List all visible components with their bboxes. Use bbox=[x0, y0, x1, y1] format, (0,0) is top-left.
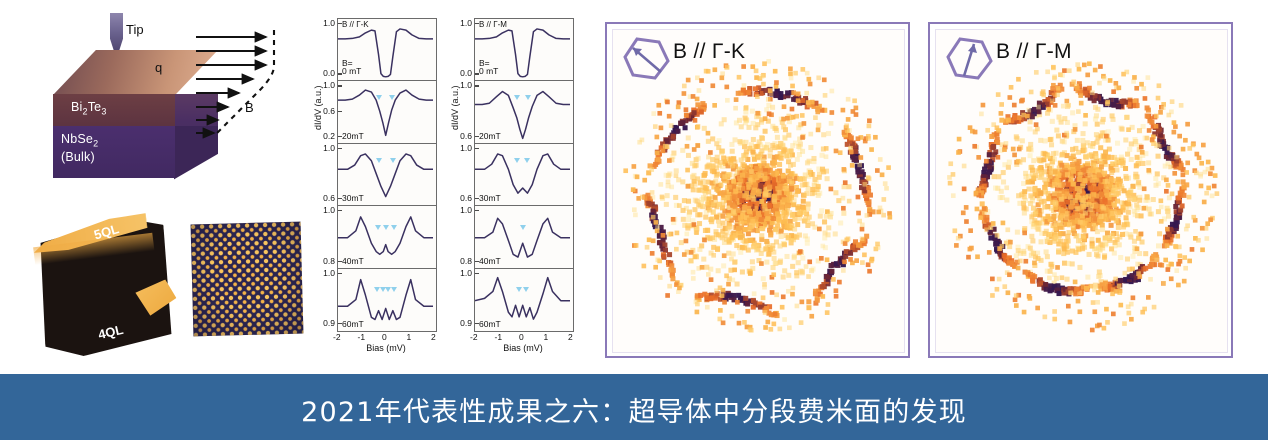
marker-arrow-icon bbox=[376, 95, 382, 100]
y-tick-label: 1.0 bbox=[460, 18, 472, 28]
block-top-face bbox=[53, 50, 218, 95]
x-tick-label: 0 bbox=[382, 332, 387, 342]
y-tick-label: 1.0 bbox=[460, 143, 472, 153]
y-tick-label: 0.2 bbox=[323, 131, 335, 141]
spectra-column-gamma-k: dI/dV (a.u.) 1.00.0B // Γ-KB=0 mT1.00.60… bbox=[315, 18, 435, 363]
marker-arrow-icon bbox=[390, 158, 396, 163]
field-label: 40mT bbox=[479, 257, 501, 266]
topography-panel: 5QL 4QL bbox=[10, 205, 300, 365]
marker-arrow-icon bbox=[391, 225, 397, 230]
qpi-map-panel-gamma-k: B // Γ-K bbox=[605, 22, 910, 358]
q-vector-label: q bbox=[155, 60, 162, 75]
spectra-xaxis-gk: Bias (mV) -2-1012 bbox=[337, 331, 435, 361]
y-tick-label: 1.0 bbox=[323, 80, 335, 90]
spectrum-cell: 40mT bbox=[338, 206, 436, 268]
qpi-map-panel-gamma-m: B // Γ-M bbox=[928, 22, 1233, 358]
qpi-title-gm: B // Γ-M bbox=[996, 40, 1072, 64]
spectra-xtitle-gk: Bias (mV) bbox=[337, 343, 435, 353]
marker-arrow-icon bbox=[376, 158, 382, 163]
spectrum-cell: B // Γ-MB=0 mT bbox=[475, 19, 573, 81]
tip-label: Tip bbox=[126, 22, 144, 37]
hexagon-arrow-icon-gm bbox=[946, 36, 994, 82]
spectra-ylabel-gm: dI/dV (a.u.) bbox=[450, 85, 460, 130]
qpi-inner-gk: B // Γ-K bbox=[612, 29, 905, 353]
label-nbse2: NbSe2 bbox=[61, 132, 98, 149]
spectrum-cell: 20mT bbox=[475, 81, 573, 143]
marker-arrow-icon bbox=[383, 225, 389, 230]
y-tick-label: 0.6 bbox=[323, 193, 335, 203]
spectra-xaxis-gm: Bias (mV) -2-1012 bbox=[474, 331, 572, 361]
marker-arrow-icon bbox=[389, 95, 395, 100]
marker-arrow-icon bbox=[391, 287, 397, 292]
marker-arrow-icon bbox=[525, 95, 531, 100]
y-tick-label: 0.6 bbox=[460, 193, 472, 203]
field-label: 30mT bbox=[479, 194, 501, 203]
caption-banner: 2021年代表性成果之六：超导体中分段费米面的发现 bbox=[0, 374, 1268, 440]
y-tick-label: 0.8 bbox=[323, 256, 335, 266]
y-tick-label: 1.0 bbox=[323, 18, 335, 28]
x-tick-label: -2 bbox=[333, 332, 341, 342]
hexagon-arrow-icon-gk bbox=[623, 36, 671, 82]
lattice-vignette bbox=[191, 222, 304, 337]
field-label: B=0 mT bbox=[479, 59, 498, 77]
spectrum-cell: B // Γ-KB=0 mT bbox=[338, 19, 436, 81]
field-label: 20mT bbox=[342, 132, 364, 141]
atomic-lattice-image bbox=[191, 222, 304, 337]
spectra-column-gamma-m: dI/dV (a.u.) 1.00.0B // Γ-MB=0 mT1.00.62… bbox=[452, 18, 572, 363]
x-tick-label: 1 bbox=[407, 332, 412, 342]
spectra-panel-title: B // Γ-K bbox=[342, 20, 369, 29]
y-tick-label: 0.9 bbox=[323, 318, 335, 328]
y-tick-label: 0.8 bbox=[460, 256, 472, 266]
x-tick-label: -2 bbox=[470, 332, 478, 342]
field-label: 20mT bbox=[479, 132, 501, 141]
marker-arrow-icon bbox=[520, 225, 526, 230]
marker-arrow-icon bbox=[524, 158, 530, 163]
spectrum-cell: 30mT bbox=[338, 144, 436, 206]
x-tick-label: -1 bbox=[358, 332, 366, 342]
spectra-stack-gk: 1.00.0B // Γ-KB=0 mT1.00.60.220mT1.00.63… bbox=[337, 18, 437, 332]
y-tick-label: 1.0 bbox=[323, 268, 335, 278]
y-tick-label: 0.6 bbox=[460, 131, 472, 141]
field-label: 30mT bbox=[342, 194, 364, 203]
spectrum-cell: 60mT bbox=[338, 269, 436, 331]
field-label: 40mT bbox=[342, 257, 364, 266]
y-tick-label: 0.6 bbox=[323, 106, 335, 116]
label-bulk: (Bulk) bbox=[61, 150, 95, 164]
field-label: B=0 mT bbox=[342, 59, 361, 77]
spectrum-cell: 30mT bbox=[475, 144, 573, 206]
marker-arrow-icon bbox=[514, 158, 520, 163]
spectrum-cell: 20mT bbox=[338, 81, 436, 143]
spectrum-cell: 40mT bbox=[475, 206, 573, 268]
y-tick-label: 0.9 bbox=[460, 318, 472, 328]
spectra-ylabel-gk: dI/dV (a.u.) bbox=[313, 85, 323, 130]
spectra-xtitle-gm: Bias (mV) bbox=[474, 343, 572, 353]
y-tick-label: 1.0 bbox=[460, 205, 472, 215]
y-tick-label: 1.0 bbox=[460, 80, 472, 90]
qpi-title-gk: B // Γ-K bbox=[673, 40, 745, 64]
field-label: 60mT bbox=[342, 320, 364, 329]
x-tick-label: -1 bbox=[495, 332, 503, 342]
sample-schematic: Tip Bi2Te3 NbSe2 (Bulk) q B bbox=[0, 0, 300, 200]
y-tick-label: 1.0 bbox=[323, 143, 335, 153]
marker-arrow-icon bbox=[516, 287, 522, 292]
x-tick-label: 2 bbox=[431, 332, 436, 342]
y-tick-label: 0.0 bbox=[460, 68, 472, 78]
marker-arrow-icon bbox=[375, 225, 381, 230]
step-edge-image: 5QL 4QL bbox=[30, 205, 178, 360]
spectrum-cell: 60mT bbox=[475, 269, 573, 331]
spectra-stack-gm: 1.00.0B // Γ-MB=0 mT1.00.620mT1.00.630mT… bbox=[474, 18, 574, 332]
x-tick-label: 2 bbox=[568, 332, 573, 342]
label-bi2te3: Bi2Te3 bbox=[71, 100, 107, 117]
marker-arrow-icon bbox=[514, 95, 520, 100]
caption-text: 2021年代表性成果之六：超导体中分段费米面的发现 bbox=[0, 390, 1268, 429]
y-tick-label: 1.0 bbox=[460, 268, 472, 278]
x-tick-label: 1 bbox=[544, 332, 549, 342]
x-tick-label: 0 bbox=[519, 332, 524, 342]
spectra-panel-title: B // Γ-M bbox=[479, 20, 507, 29]
marker-arrow-icon bbox=[523, 287, 529, 292]
y-tick-label: 0.0 bbox=[323, 68, 335, 78]
qpi-inner-gm: B // Γ-M bbox=[935, 29, 1228, 353]
field-label: 60mT bbox=[479, 320, 501, 329]
field-arrows-icon bbox=[196, 30, 301, 150]
y-tick-label: 1.0 bbox=[323, 205, 335, 215]
figure-root: Tip Bi2Te3 NbSe2 (Bulk) q B bbox=[0, 0, 1268, 440]
